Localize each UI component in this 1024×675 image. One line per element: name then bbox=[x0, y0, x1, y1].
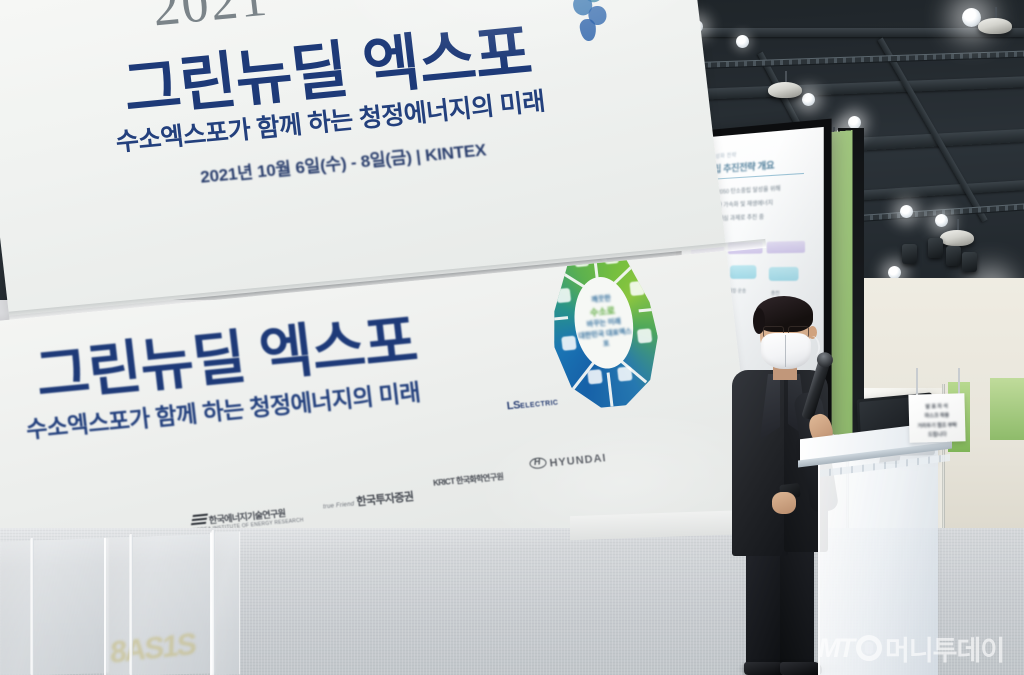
truss-stage-light bbox=[902, 244, 917, 264]
slide-chip bbox=[769, 267, 799, 281]
face-mask bbox=[761, 333, 811, 369]
droplet-spoke bbox=[639, 307, 659, 312]
ceiling-speaker bbox=[768, 82, 802, 98]
trouser-leg-right bbox=[780, 548, 814, 672]
photo-scene: 수소경제 활성화 전략 탄소중립 추진전략 개요 우리나라는 2050 탄소중립… bbox=[0, 0, 1024, 675]
ceiling-speaker bbox=[978, 18, 1012, 34]
ceiling-spotlight bbox=[935, 214, 948, 227]
green-accent-strip bbox=[990, 378, 1024, 440]
ceiling-spotlight bbox=[736, 35, 749, 48]
sponsor-name-3: HYUNDAI bbox=[549, 452, 607, 469]
droplet-center-line-1: 깨끗한 bbox=[591, 295, 611, 304]
event-backdrop-banner: 2021 그린뉴딜 엑스포 수소엑스포가 함께 하는 청정에너지의 미래 202… bbox=[0, 0, 756, 574]
acrylic-panel-pole bbox=[129, 534, 133, 675]
droplet-segment-icon bbox=[629, 281, 645, 296]
watermark: MT 머니투데이 bbox=[818, 628, 1004, 668]
ceiling-spotlight bbox=[802, 93, 815, 106]
trouser-leg-left bbox=[746, 548, 780, 670]
droplet-center-text: 깨끗한 수소로 바꾸는 미래 대한민국 대표엑스포 bbox=[572, 286, 636, 363]
droplet-spoke bbox=[548, 316, 568, 321]
droplet-segment-icon bbox=[556, 288, 572, 303]
droplet-center-line-3: 바꾸는 미래 bbox=[586, 318, 621, 328]
sponsor-logo-2: KRICT 한국화학연구원 bbox=[433, 471, 504, 489]
droplet-spoke bbox=[607, 372, 614, 406]
droplet-center-line-2: 수소로 bbox=[590, 305, 616, 317]
ceiling-speaker bbox=[940, 230, 974, 246]
ls-electric-logo: LSELECTRIC bbox=[506, 396, 559, 413]
droplet-center-line-4: 대한민국 대표엑스포 bbox=[578, 328, 632, 348]
ls-logo-word: ELECTRIC bbox=[520, 399, 559, 410]
podium-sign-line-2: 마스크 착용 bbox=[925, 413, 950, 420]
watermark-brand-korean: 머니투데이 bbox=[885, 629, 1004, 668]
watermark-brand-latin: MT bbox=[818, 633, 853, 664]
slide-chip bbox=[730, 265, 756, 279]
droplet-segment-icon bbox=[637, 328, 653, 343]
podium-sign-text: 발 표 자 석 마스크 착용 거리두기 협조 부탁드립니다 bbox=[916, 402, 959, 440]
acrylic-panel-pole bbox=[30, 538, 34, 675]
kier-bars-logo-icon bbox=[191, 514, 208, 527]
sponsor-name-2: KRICT 한국화학연구원 bbox=[433, 472, 504, 488]
droplet-segment-icon bbox=[587, 369, 603, 384]
slide-group-header bbox=[767, 241, 805, 254]
berry-shape bbox=[579, 18, 597, 41]
sponsor-subname-1: true Friend bbox=[323, 502, 355, 511]
droplet-segment-icon bbox=[561, 336, 577, 351]
podium-sign-line-3: 거리두기 협조 부탁드립니다 bbox=[917, 422, 957, 438]
ls-logo-mark: LS bbox=[506, 399, 521, 412]
droplet-spoke bbox=[552, 266, 588, 290]
hydrogen-water-droplet-wheel-icon: 깨끗한 수소로 바꾸는 미래 대한민국 대표엑스포 bbox=[542, 251, 666, 413]
podium-sign-line-1: 발 표 자 석 bbox=[925, 404, 948, 411]
sponsor-logo-1: true Friend 한국투자증권 bbox=[322, 488, 414, 513]
sponsor-name-1: 한국투자증권 bbox=[356, 491, 414, 508]
hand-left bbox=[772, 492, 796, 514]
podium-notice-sign: 발 표 자 석 마스크 착용 거리두기 협조 부탁드립니다 bbox=[908, 393, 965, 442]
truss-stage-light bbox=[962, 252, 977, 272]
truss-stage-light bbox=[946, 246, 961, 266]
hyundai-logo-icon bbox=[529, 457, 547, 470]
acrylic-foreground-panel bbox=[0, 538, 108, 675]
truss-stage-light bbox=[928, 238, 943, 258]
dress-shoe-right bbox=[780, 662, 822, 675]
ceiling-spotlight bbox=[900, 205, 913, 218]
droplet-segment-icon bbox=[617, 366, 633, 381]
mt-ring-logo-icon bbox=[856, 635, 882, 661]
sponsor-logo-3: HYUNDAI bbox=[529, 451, 607, 471]
acrylic-panel-pole bbox=[211, 530, 215, 675]
